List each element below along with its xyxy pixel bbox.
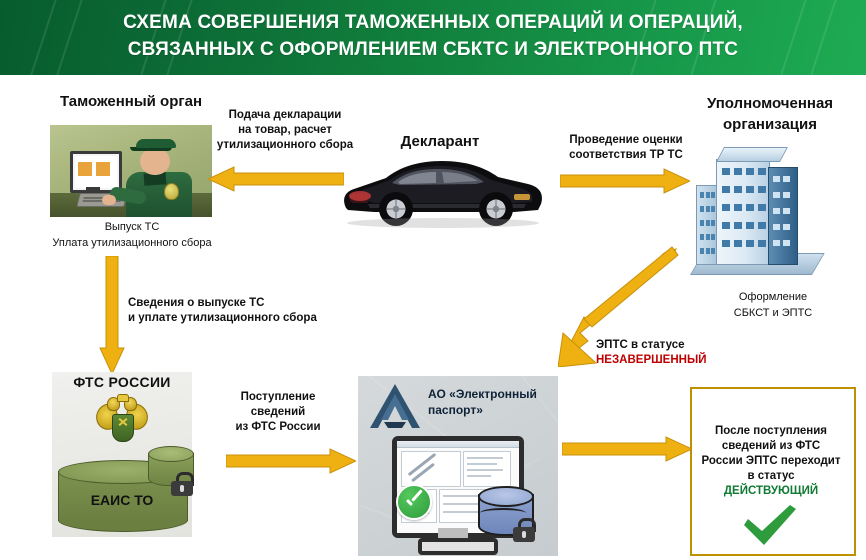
assessment-arrow-right <box>560 168 690 194</box>
page-header: СХЕМА СОВЕРШЕНИЯ ТАМОЖЕННЫХ ОПЕРАЦИЙ И О… <box>0 0 866 75</box>
green-check-icon <box>396 484 432 520</box>
eps-incomplete-line1: ЭПТС в статусе <box>596 338 726 353</box>
page-title: СХЕМА СОВЕРШЕНИЯ ТАМОЖЕННЫХ ОПЕРАЦИЙ И О… <box>0 9 866 63</box>
green-check-mark-icon <box>742 505 798 547</box>
release-info-line1: Сведения о выпуске ТС <box>128 296 340 311</box>
release-info-label: Сведения о выпуске ТС и уплате утилизаци… <box>128 296 340 326</box>
eps-incomplete-status: НЕЗАВЕРШЕННЫЙ <box>596 353 726 368</box>
declaration-arrow-label: Подача декларации на товар, расчет утили… <box>212 108 358 153</box>
fts-title: ФТС РОССИИ <box>52 374 192 390</box>
release-info-line2: и уплате утилизационного сбора <box>128 311 340 326</box>
customs-officer-icon <box>50 125 212 217</box>
result-text: После поступления сведений из ФТС России… <box>694 424 848 499</box>
eais-database-label: ЕАИС ТО <box>58 492 186 508</box>
result-line4: в статус <box>694 469 848 484</box>
customs-caption-line1: Выпуск ТС <box>22 220 242 235</box>
declaration-arrow-left <box>208 166 344 192</box>
info-from-fts-arrow-right <box>226 448 356 474</box>
result-line1: После поступления <box>694 424 848 439</box>
authorized-org-title-line1: Уполномоченная <box>672 95 866 112</box>
assessment-label-line1: Проведение оценки <box>556 133 696 148</box>
page-title-line1: СХЕМА СОВЕРШЕНИЯ ТАМОЖЕННЫХ ОПЕРАЦИЙ И О… <box>0 9 866 36</box>
page-title-line2: СВЯЗАННЫХ С ОФОРМЛЕНИЕМ СБКТС И ЭЛЕКТРОН… <box>0 36 866 63</box>
release-info-arrow-down <box>99 256 125 374</box>
ep-title-line2: паспорт» <box>428 402 558 418</box>
result-line2: сведений из ФТС <box>694 439 848 454</box>
info-from-fts-line1: Поступление <box>212 390 344 405</box>
declaration-label-line3: утилизационного сбора <box>212 138 358 153</box>
office-building-icon <box>690 145 810 275</box>
authorized-org-caption-line1: Оформление <box>690 290 856 305</box>
info-from-fts-label: Поступление сведений из ФТС России <box>212 390 344 435</box>
info-from-fts-line3: из ФТС России <box>212 420 344 435</box>
electronic-passport-title: АО «Электронный паспорт» <box>428 386 558 418</box>
eps-incomplete-label: ЭПТС в статусе НЕЗАВЕРШЕННЫЙ <box>596 338 726 368</box>
customs-caption-line2: Уплата утилизационного сбора <box>10 236 254 251</box>
ep-title-line1: АО «Электронный <box>428 386 558 402</box>
declaration-label-line1: Подача декларации <box>212 108 358 123</box>
russian-coat-of-arms-icon <box>96 394 148 446</box>
authorized-org-caption-line2: СБКСТ и ЭПТС <box>690 306 856 321</box>
result-line3: России ЭПТС переходит <box>694 454 848 469</box>
result-status-badge: ДЕЙСТВУЮЩИЙ <box>694 484 848 499</box>
ep-lock-icon <box>512 518 536 542</box>
info-from-fts-line2: сведений <box>212 405 344 420</box>
customs-authority-title: Таможенный орган <box>20 93 242 110</box>
authorized-org-title-line2: организация <box>672 116 866 133</box>
assessment-arrow-label: Проведение оценки соответствия ТР ТС <box>556 133 696 163</box>
to-result-arrow-right <box>562 436 692 462</box>
declaration-label-line2: на товар, расчет <box>212 123 358 138</box>
assessment-label-line2: соответствия ТР ТС <box>556 148 696 163</box>
triangle-logo-icon <box>368 382 422 430</box>
declarant-car-icon <box>338 150 548 228</box>
declarant-title: Декларант <box>345 133 535 150</box>
